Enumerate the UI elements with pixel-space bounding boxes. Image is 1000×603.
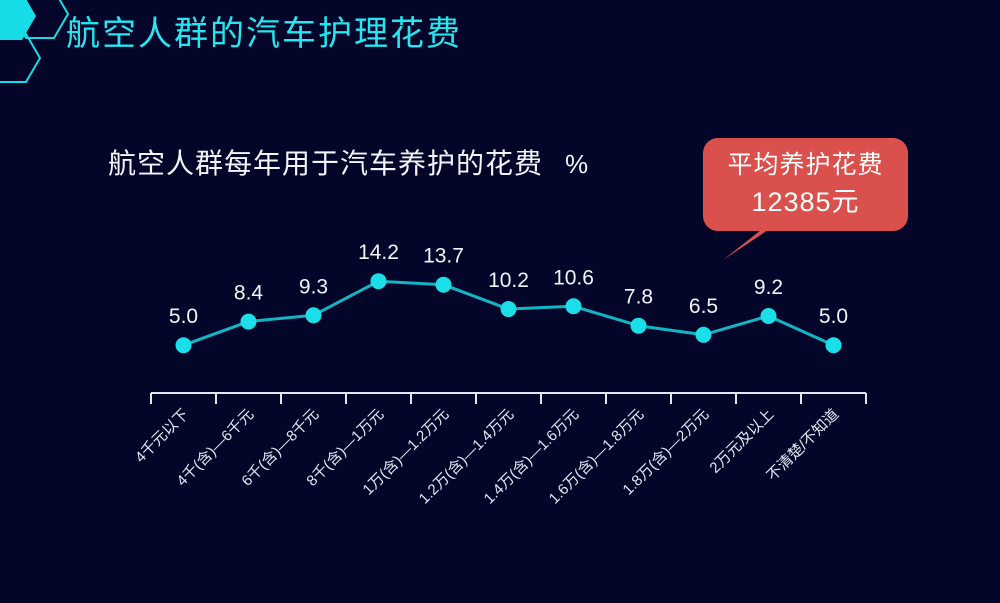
data-point-marker[interactable] [566,298,582,314]
data-point-marker[interactable] [696,327,712,343]
data-point-marker[interactable] [436,277,452,293]
data-point-marker[interactable] [826,337,842,353]
data-point-marker[interactable] [176,337,192,353]
x-axis-category-label: 4千(含)—6千元 [173,406,257,490]
page-title: 航空人群的汽车护理花费 [66,11,462,57]
chart-subtitle: 航空人群每年用于汽车养护的花费% [108,145,589,183]
callout-tail-icon [723,230,768,260]
x-axis-category-label: 1.4万(含)—1.6万元 [481,406,583,508]
data-point-label: 9.2 [754,276,783,299]
series-markers [176,273,842,353]
data-point-marker[interactable] [761,308,777,324]
x-axis [151,393,866,404]
x-axis-ticks [151,393,866,404]
data-point-label: 14.2 [358,241,399,264]
hexagon-filled-icon [0,0,36,40]
data-point-marker[interactable] [241,314,257,330]
data-point-label: 10.2 [488,269,529,292]
x-axis-category-label: 1.8万(含)—2万元 [620,406,713,499]
x-axis-category-label: 不清楚/不知道 [764,406,843,485]
data-point-label: 8.4 [234,282,264,305]
spend-distribution-line-chart: 5.08.49.314.213.710.210.67.86.59.25.0 4千… [0,0,1000,603]
chart-unit-label: % [565,149,589,179]
hexagon-outline-bottom-icon [0,34,40,82]
data-point-label: 5.0 [819,305,848,328]
data-point-label: 6.5 [689,295,718,318]
chart-subtitle-text: 航空人群每年用于汽车养护的花费 [108,148,543,179]
x-axis-category-label: 1.6万(含)—1.8万元 [546,406,648,508]
x-axis-category-label: 6千(含)—8千元 [238,406,322,490]
data-point-label: 9.3 [299,275,328,298]
x-axis-category-label: 1.2万(含)—1.4万元 [416,406,518,508]
x-axis-category-labels: 4千元以下4千(含)—6千元6千(含)—8千元8千(含)—1万元1万(含)—1.… [132,406,842,508]
data-point-label: 10.6 [553,266,594,289]
x-axis-category-label: 4千元以下 [132,406,192,466]
data-point-label: 5.0 [169,305,198,328]
data-point-marker[interactable] [631,318,647,334]
x-axis-category-label: 8千(含)—1万元 [303,406,387,490]
x-axis-category-label: 2万元及以上 [706,406,777,477]
data-point-label: 13.7 [423,245,464,268]
hexagon-outline-top-icon [12,0,68,38]
callout-value: 12385元 [703,183,908,221]
data-point-marker[interactable] [306,307,322,323]
series-line [184,281,834,345]
data-point-marker[interactable] [501,301,517,317]
average-maintenance-cost-callout: 平均养护花费 12385元 [703,138,908,231]
callout-title: 平均养护花费 [703,147,908,183]
x-axis-category-label: 1万(含)—1.2万元 [360,406,453,499]
data-point-marker[interactable] [371,273,387,289]
data-point-label: 7.8 [624,286,653,309]
